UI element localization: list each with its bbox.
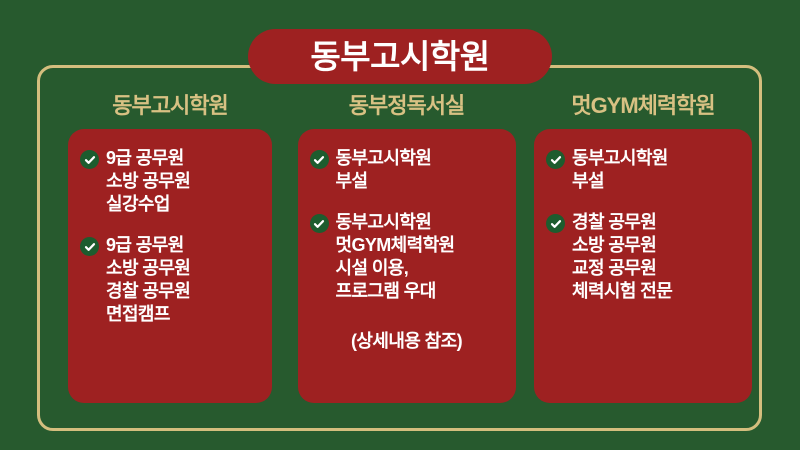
column-3: 멋GYM체력학원동부고시학원부설경찰 공무원소방 공무원교정 공무원체력시험 전… xyxy=(533,95,753,403)
column-header: 멋GYM체력학원 xyxy=(571,95,714,117)
list-item: 9급 공무원소방 공무원경찰 공무원면접캠프 xyxy=(80,234,260,326)
card-note: (상세내용 참조) xyxy=(310,331,504,353)
list-item-line: 교정 공무원 xyxy=(572,257,672,280)
list-item-line: 부설 xyxy=(572,170,668,193)
list-item-line: 소방 공무원 xyxy=(106,170,190,193)
list-item-line: 소방 공무원 xyxy=(106,257,190,280)
info-card: 동부고시학원부설동부고시학원멋GYM체력학원시설 이용,프로그램 우대(상세내용… xyxy=(298,129,516,403)
list-item-text: 동부고시학원멋GYM체력학원시설 이용,프로그램 우대 xyxy=(336,211,455,303)
title-banner: 동부고시학원 xyxy=(248,29,552,84)
page-title: 동부고시학원 xyxy=(310,40,489,73)
list-item: 동부고시학원부설 xyxy=(310,147,504,193)
check-circle-icon xyxy=(546,214,565,233)
check-circle-icon xyxy=(80,150,99,169)
list-item-text: 경찰 공무원소방 공무원교정 공무원체력시험 전문 xyxy=(572,211,672,303)
column-2: 동부정독서실동부고시학원부설동부고시학원멋GYM체력학원시설 이용,프로그램 우… xyxy=(297,95,517,403)
list-item-line: 소방 공무원 xyxy=(572,234,672,257)
column-header: 동부정독서실 xyxy=(349,95,464,117)
list-item-line: 체력시험 전문 xyxy=(572,280,672,303)
list-item: 경찰 공무원소방 공무원교정 공무원체력시험 전문 xyxy=(546,211,740,303)
list-item-line: 9급 공무원 xyxy=(106,234,190,257)
list-item-line: 동부고시학원 xyxy=(336,211,455,234)
list-item-line: 경찰 공무원 xyxy=(106,280,190,303)
list-item: 동부고시학원멋GYM체력학원시설 이용,프로그램 우대 xyxy=(310,211,504,303)
list-item-line: 9급 공무원 xyxy=(106,147,190,170)
list-item-line: 동부고시학원 xyxy=(572,147,668,170)
list-item: 9급 공무원소방 공무원실강수업 xyxy=(80,147,260,216)
list-item-line: 멋GYM체력학원 xyxy=(336,234,455,257)
poster-root: 동부고시학원 동부고시학원9급 공무원소방 공무원실강수업9급 공무원소방 공무… xyxy=(0,0,800,450)
list-item-text: 동부고시학원부설 xyxy=(336,147,432,193)
list-item-text: 동부고시학원부설 xyxy=(572,147,668,193)
check-circle-icon xyxy=(310,214,329,233)
column-header: 동부고시학원 xyxy=(112,95,227,117)
column-1: 동부고시학원9급 공무원소방 공무원실강수업9급 공무원소방 공무원경찰 공무원… xyxy=(60,95,280,403)
list-item: 동부고시학원부설 xyxy=(546,147,740,193)
list-item-line: 경찰 공무원 xyxy=(572,211,672,234)
check-circle-icon xyxy=(546,150,565,169)
list-item-line: 동부고시학원 xyxy=(336,147,432,170)
info-card: 동부고시학원부설경찰 공무원소방 공무원교정 공무원체력시험 전문 xyxy=(534,129,752,403)
list-item-text: 9급 공무원소방 공무원경찰 공무원면접캠프 xyxy=(106,234,190,326)
list-item-line: 실강수업 xyxy=(106,193,190,216)
list-item-line: 면접캠프 xyxy=(106,303,190,326)
list-item-line: 부설 xyxy=(336,170,432,193)
list-item-line: 프로그램 우대 xyxy=(336,280,455,303)
info-card: 9급 공무원소방 공무원실강수업9급 공무원소방 공무원경찰 공무원면접캠프 xyxy=(68,129,272,403)
columns-container: 동부고시학원9급 공무원소방 공무원실강수업9급 공무원소방 공무원경찰 공무원… xyxy=(60,95,753,425)
check-circle-icon xyxy=(310,150,329,169)
list-item-text: 9급 공무원소방 공무원실강수업 xyxy=(106,147,190,216)
check-circle-icon xyxy=(80,237,99,256)
list-item-line: 시설 이용, xyxy=(336,257,455,280)
